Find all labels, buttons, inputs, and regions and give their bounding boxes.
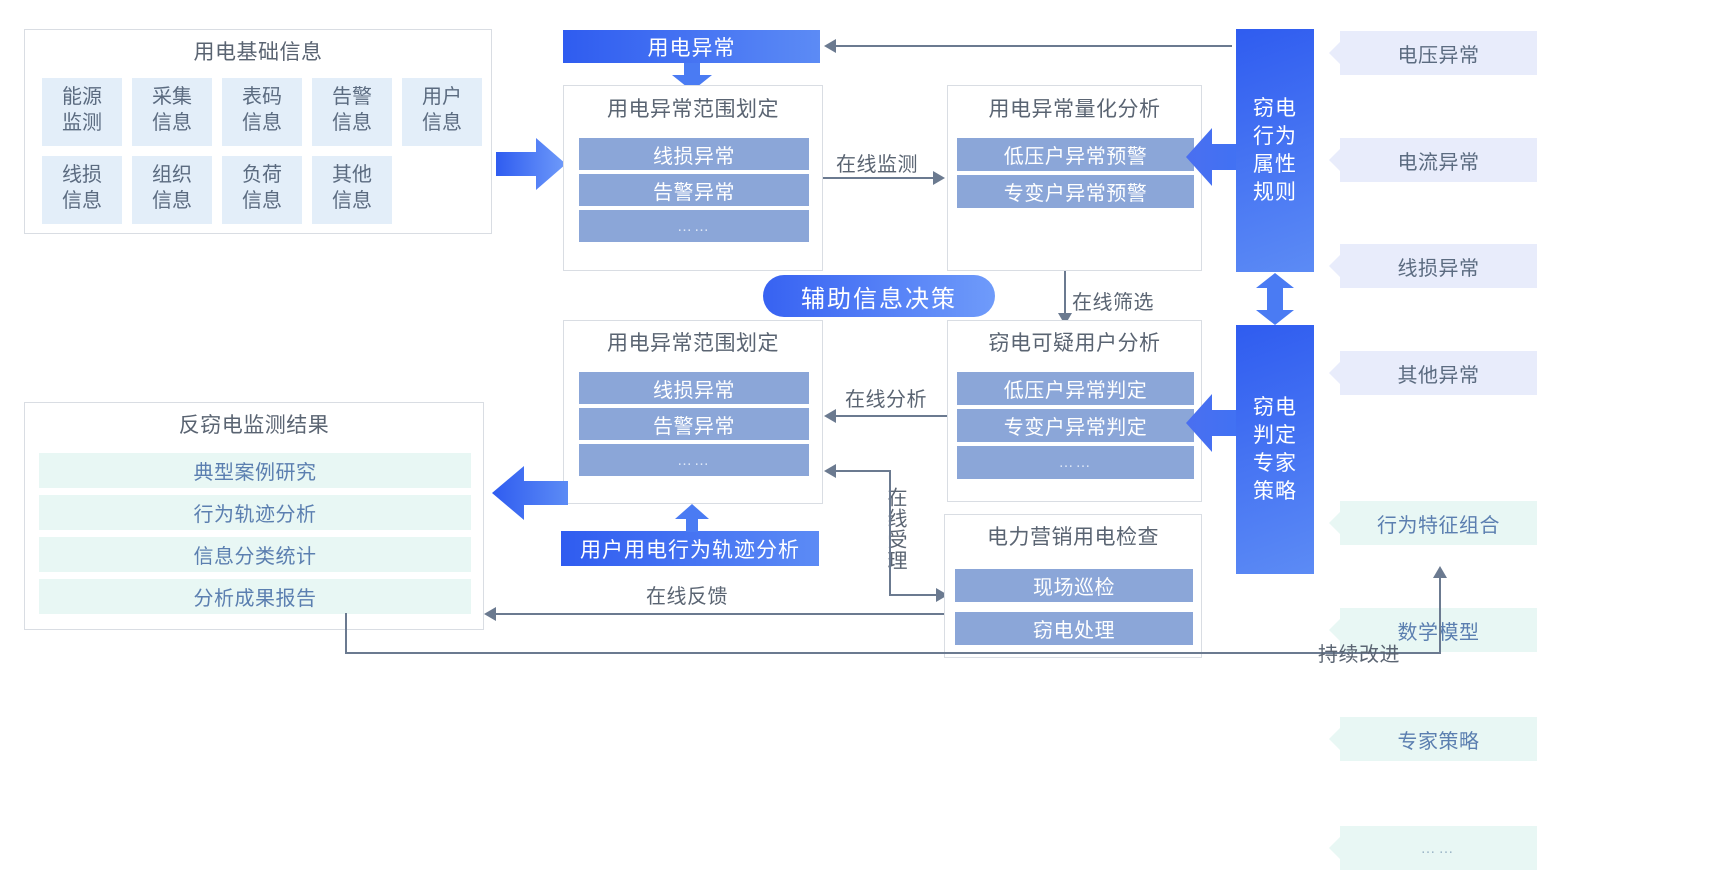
chip-line1: 告警	[312, 84, 392, 110]
label-continuous-improve: 持续改进	[1318, 638, 1400, 667]
panel-marketing-inspection: 电力营销用电检查 现场巡检 窃电处理	[944, 514, 1202, 658]
arrow-scope-to-results-icon	[492, 462, 568, 524]
row-alarm-anomaly-b[interactable]: 告警异常	[579, 408, 809, 440]
chip-line2: 信息	[402, 110, 482, 136]
chip-line2: 信息	[132, 188, 212, 214]
callout-notch-icon	[1329, 837, 1340, 859]
callout-notch-icon	[1329, 149, 1340, 171]
arrowhead-suspect-to-scope-icon	[824, 409, 836, 423]
line-rule-to-banner	[836, 45, 1232, 47]
callout-behavior-feature-combination[interactable]: 行为特征组合	[1340, 501, 1537, 545]
flowchart-canvas: 用电基础信息 能源 监测 采集 信息 表码 信息 告警 信息 用户 信息	[0, 0, 1731, 764]
chip-line1: 用户	[402, 84, 482, 110]
arrowhead-online-feedback-icon	[484, 607, 496, 621]
chip-line2: 信息	[312, 188, 392, 214]
panel-quantitative-analysis-title: 用电异常量化分析	[948, 99, 1201, 120]
strategy-label-line-2: 判定	[1253, 422, 1297, 450]
callout-label: 线损异常	[1398, 252, 1480, 281]
line-accept-vertical	[889, 470, 891, 595]
line-accept-to-inspection	[889, 594, 937, 596]
row-more-anomaly[interactable]: ……	[579, 210, 809, 242]
panel-suspect-user-analysis-title: 窃电可疑用户分析	[948, 333, 1201, 354]
arrow-basic-to-scope-icon	[496, 134, 566, 194]
line-continuous-improve-bottom	[345, 652, 1441, 654]
row-theft-handling[interactable]: 窃电处理	[955, 612, 1193, 645]
chip-line1: 表码	[222, 84, 302, 110]
chip-alarm-info[interactable]: 告警 信息	[312, 78, 392, 146]
callout-strategy-more[interactable]: ……	[1340, 826, 1537, 870]
line-suspect-to-scope	[836, 415, 948, 417]
chip-collection-info[interactable]: 采集 信息	[132, 78, 212, 146]
chip-user-info[interactable]: 用户 信息	[402, 78, 482, 146]
chip-energy-monitor[interactable]: 能源 监测	[42, 78, 122, 146]
chip-line2: 信息	[312, 110, 392, 136]
arrowhead-rule-to-banner-icon	[824, 39, 836, 53]
row-special-transformer-anomaly-alert[interactable]: 专变户异常预警	[957, 175, 1194, 208]
callout-label: 专家策略	[1398, 725, 1480, 754]
banner-user-behavior-trajectory[interactable]: 用户用电行为轨迹分析	[561, 531, 819, 566]
panel-quantitative-analysis: 用电异常量化分析 低压户异常预警 专变户异常预警	[947, 85, 1202, 271]
line-continuous-improve-left	[345, 613, 347, 653]
arrowhead-scope-to-quant-icon	[933, 171, 945, 185]
row-special-transformer-anomaly-decision[interactable]: 专变户异常判定	[957, 409, 1194, 442]
chip-line2: 信息	[132, 110, 212, 136]
callout-notch-icon	[1329, 255, 1340, 277]
chip-organization-info[interactable]: 组织 信息	[132, 156, 212, 224]
strategy-label-line-4: 策略	[1253, 478, 1297, 506]
callout-label: ……	[1421, 840, 1457, 857]
strategy-label-line-1: 窃电	[1253, 394, 1297, 422]
label-online-analysis: 在线分析	[845, 383, 927, 412]
chip-line2: 信息	[222, 188, 302, 214]
chip-line1: 组织	[132, 162, 212, 188]
row-typical-case-study[interactable]: 典型案例研究	[39, 453, 471, 488]
callout-expert-strategy[interactable]: 专家策略	[1340, 717, 1537, 761]
row-analysis-report[interactable]: 分析成果报告	[39, 579, 471, 614]
line-accept-to-scope	[836, 470, 891, 472]
panel-basic-info: 用电基础信息 能源 监测 采集 信息 表码 信息 告警 信息 用户 信息	[24, 29, 492, 234]
line-continuous-improve-right	[1439, 578, 1441, 653]
panel-anomaly-scope-top-title: 用电异常范围划定	[564, 99, 822, 120]
row-line-loss-anomaly[interactable]: 线损异常	[579, 138, 809, 170]
line-quant-to-suspect	[1064, 271, 1066, 315]
rule-label-line-4: 规则	[1253, 179, 1297, 207]
row-more-anomaly-b[interactable]: ……	[579, 444, 809, 476]
callout-notch-icon	[1329, 42, 1340, 64]
badge-decision-support[interactable]: 辅助信息决策	[763, 275, 995, 317]
panel-basic-info-title: 用电基础信息	[25, 42, 491, 63]
label-online-monitor: 在线监测	[836, 148, 918, 177]
row-alarm-anomaly[interactable]: 告警异常	[579, 174, 809, 206]
chip-line-loss-info[interactable]: 线损 信息	[42, 156, 122, 224]
callout-label: 电流异常	[1398, 146, 1480, 175]
arrowhead-continuous-improve-icon	[1433, 566, 1447, 578]
chip-line1: 能源	[42, 84, 122, 110]
panel-anomaly-scope-bottom-title: 用电异常范围划定	[564, 333, 822, 354]
banner-power-anomaly[interactable]: 用电异常	[563, 30, 820, 63]
callout-current-anomaly[interactable]: 电流异常	[1340, 138, 1537, 182]
callout-notch-icon	[1329, 728, 1340, 750]
rule-label-line-1: 窃电	[1253, 95, 1297, 123]
callout-label: 其他异常	[1398, 359, 1480, 388]
row-lv-user-anomaly-decision[interactable]: 低压户异常判定	[957, 372, 1194, 405]
label-online-filter: 在线筛选	[1072, 286, 1154, 315]
panel-anti-theft-results-title: 反窃电监测结果	[25, 415, 483, 436]
panel-marketing-inspection-title: 电力营销用电检查	[945, 527, 1201, 548]
row-info-classification-statistics[interactable]: 信息分类统计	[39, 537, 471, 572]
chip-line1: 线损	[42, 162, 122, 188]
callout-voltage-anomaly[interactable]: 电压异常	[1340, 31, 1537, 75]
column-theft-expert-strategy[interactable]: 窃电 判定 专家 策略	[1236, 325, 1314, 574]
panel-anomaly-scope-bottom: 用电异常范围划定 线损异常 告警异常 ……	[563, 320, 823, 504]
callout-notch-icon	[1329, 512, 1340, 534]
panel-suspect-user-analysis: 窃电可疑用户分析 低压户异常判定 专变户异常判定 ……	[947, 320, 1202, 502]
line-scope-to-quant	[823, 177, 933, 179]
callout-label: 行为特征组合	[1377, 509, 1500, 538]
row-line-loss-anomaly-b[interactable]: 线损异常	[579, 372, 809, 404]
chip-line1: 负荷	[222, 162, 302, 188]
rule-label-line-3: 属性	[1253, 151, 1297, 179]
row-onsite-inspection[interactable]: 现场巡检	[955, 569, 1193, 602]
chip-line2: 监测	[42, 110, 122, 136]
callout-line-loss-anomaly[interactable]: 线损异常	[1340, 244, 1537, 288]
panel-anomaly-scope-top: 用电异常范围划定 线损异常 告警异常 ……	[563, 85, 823, 271]
chip-load-info[interactable]: 负荷 信息	[222, 156, 302, 224]
label-online-acceptance: 在线受理	[884, 487, 906, 571]
arrow-behavior-up-icon	[675, 504, 709, 532]
row-lv-user-anomaly-alert[interactable]: 低压户异常预警	[957, 138, 1194, 171]
callout-notch-icon	[1329, 362, 1340, 384]
chip-line2: 信息	[222, 110, 302, 136]
panel-anti-theft-results: 反窃电监测结果 典型案例研究 行为轨迹分析 信息分类统计 分析成果报告	[24, 402, 484, 630]
strategy-label-line-3: 专家	[1253, 450, 1297, 478]
rule-label-line-2: 行为	[1253, 123, 1297, 151]
arrowhead-accept-to-scope-icon	[824, 464, 836, 478]
chip-line2: 信息	[42, 188, 122, 214]
row-more-decision[interactable]: ……	[957, 446, 1194, 479]
chip-line1: 采集	[132, 84, 212, 110]
label-online-feedback: 在线反馈	[646, 580, 728, 609]
row-behavior-trajectory-analysis[interactable]: 行为轨迹分析	[39, 495, 471, 530]
chip-other-info[interactable]: 其他 信息	[312, 156, 392, 224]
arrow-rule-strategy-link-icon	[1256, 273, 1294, 325]
column-theft-behavior-rules[interactable]: 窃电 行为 属性 规则	[1236, 29, 1314, 272]
callout-label: 电压异常	[1398, 39, 1480, 68]
callout-other-anomaly[interactable]: 其他异常	[1340, 351, 1537, 395]
line-online-feedback	[496, 613, 944, 615]
chip-meter-code-info[interactable]: 表码 信息	[222, 78, 302, 146]
chip-line1: 其他	[312, 162, 392, 188]
